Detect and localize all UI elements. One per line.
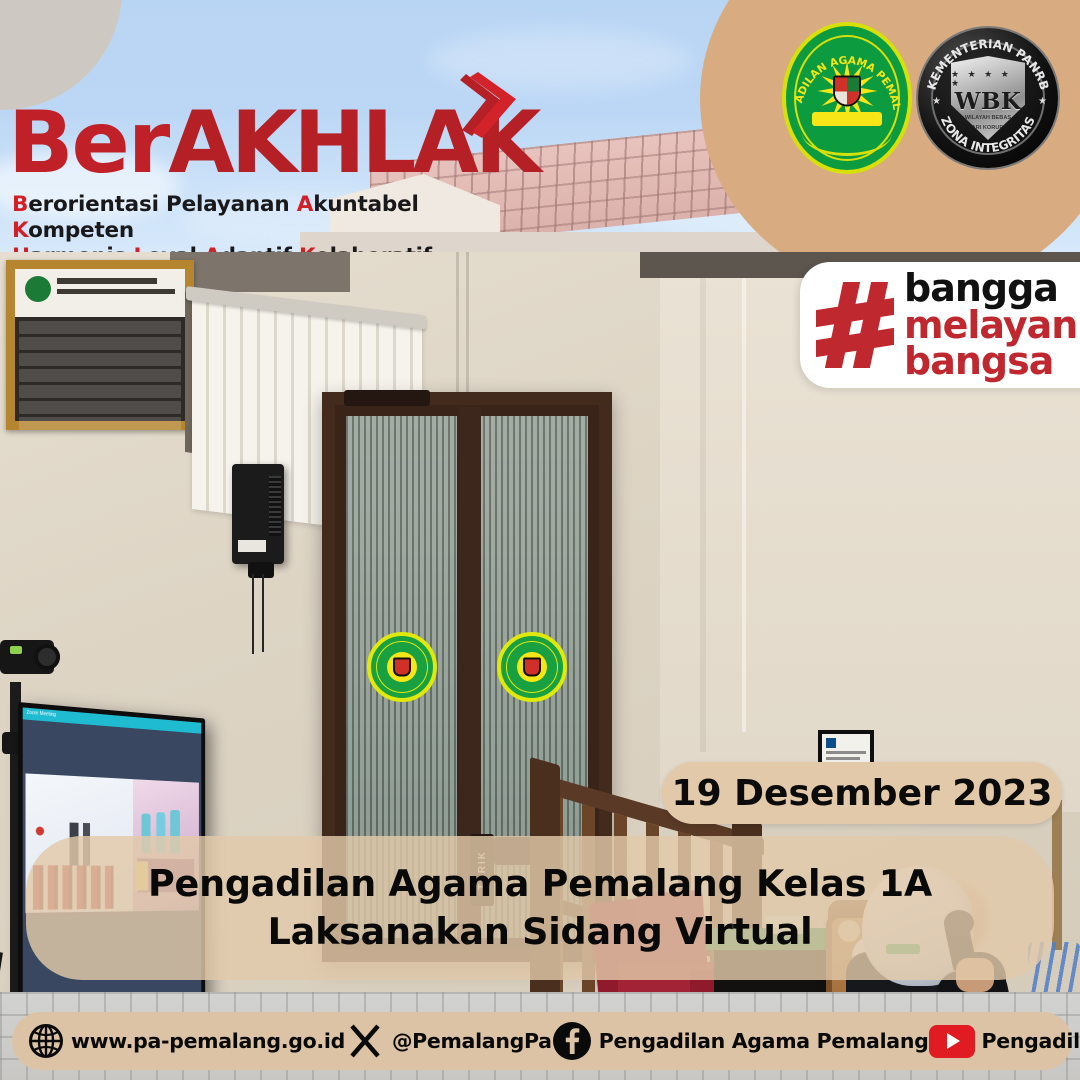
footer-item-x[interactable]: @PemalangPa	[345, 1021, 552, 1061]
headline-text: Pengadilan Agama Pemalang Kelas 1A Laksa…	[74, 860, 1006, 956]
camera-lens-icon	[34, 644, 60, 670]
bangga-melayani-bangsa-badge: bangga melayani bangsa	[800, 262, 1080, 388]
footer-label-website: www.pa-pemalang.go.id	[71, 1029, 345, 1053]
camera-indicator	[10, 646, 22, 654]
wbk-main-label: WBK	[955, 90, 1022, 113]
youtube-icon	[929, 1025, 975, 1058]
framed-schedule-board	[6, 260, 194, 430]
poster-canvas: BerAKHLAK Berorientasi Pelayanan Akuntab…	[0, 0, 1080, 1080]
headline-banner: Pengadilan Agama Pemalang Kelas 1A Laksa…	[26, 836, 1054, 980]
door-seal-icon	[367, 632, 437, 702]
wbk-zona-integritas-icon: KEMENTERIAN PANRB ZONA INTEGRITAS ★ ★ ★ …	[918, 28, 1058, 168]
ceiling-shadow	[170, 252, 350, 292]
berakhlak-ber: Ber	[8, 93, 168, 193]
footer-item-website[interactable]: www.pa-pemalang.go.id	[28, 1023, 345, 1059]
hashtag-icon	[816, 282, 894, 368]
date-badge-label: 19 Desember 2023	[672, 773, 1053, 814]
wall-speaker	[232, 464, 284, 564]
door-seal-icon	[497, 632, 567, 702]
berakhlak-values-line1: Berorientasi Pelayanan Akuntabel Kompete…	[12, 192, 528, 244]
wall-seam	[742, 252, 746, 732]
bangga-line-1: bangga	[904, 270, 1080, 307]
speaker-cable	[262, 574, 264, 652]
wbk-stars: ★ ★ ★ ★ ★	[951, 70, 1025, 88]
chevron-arrow-icon	[460, 72, 516, 142]
svg-text:★: ★	[932, 96, 941, 107]
bangga-line-3: bangsa	[904, 343, 1080, 380]
x-twitter-icon	[345, 1021, 385, 1061]
berakhlak-logo: BerAKHLAK Berorientasi Pelayanan Akuntab…	[8, 100, 528, 271]
door-closer	[344, 390, 430, 406]
date-badge: 19 Desember 2023	[662, 762, 1062, 824]
footer-label-facebook: Pengadilan Agama Pemalang	[599, 1029, 929, 1053]
footer-label-youtube: Pengadilan Agama Pemalang	[982, 1029, 1080, 1053]
seal-shield-icon	[833, 76, 861, 107]
globe-icon	[28, 1023, 64, 1059]
social-footer-bar: www.pa-pemalang.go.id @PemalangPa Pengad…	[12, 1012, 1072, 1070]
pengadilan-agama-seal-icon: PENGADILAN AGAMA PEMALANG	[782, 22, 912, 174]
footer-item-facebook[interactable]: Pengadilan Agama Pemalang	[552, 1021, 929, 1061]
footer-label-x: @PemalangPa	[392, 1029, 552, 1053]
speaker-cable	[252, 574, 254, 654]
wall-seam	[700, 252, 706, 752]
svg-text:★: ★	[1038, 96, 1047, 107]
seal-wreath	[802, 110, 892, 156]
bangga-text-block: bangga melayani bangsa	[904, 270, 1080, 381]
footer-item-youtube[interactable]: Pengadilan Agama Pemalang	[929, 1025, 1080, 1058]
bangga-line-2: melayani	[904, 307, 1080, 344]
wbk-sub-line1: WILAYAH BEBAS	[965, 115, 1011, 123]
facebook-icon	[552, 1021, 592, 1061]
berakhlak-wordmark: BerAKHLAK	[8, 100, 528, 186]
emblem-row: PENGADILAN AGAMA PEMALANG	[782, 22, 1058, 174]
